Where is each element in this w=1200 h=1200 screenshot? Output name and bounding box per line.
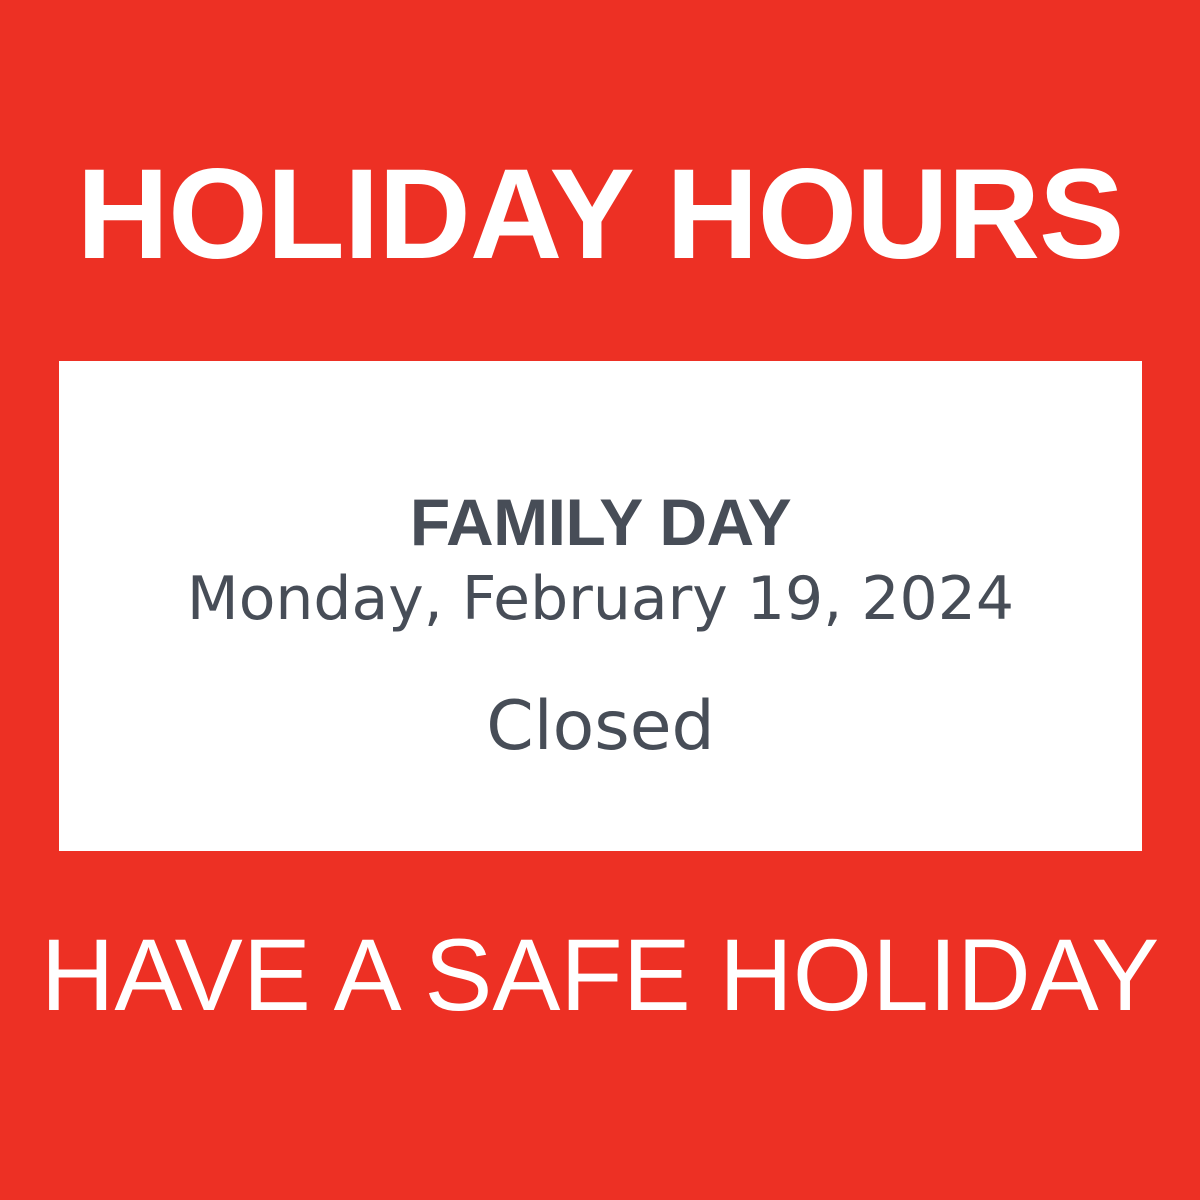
- holiday-hours-sign: HOLIDAY HOURS FAMILY DAY Monday, Februar…: [0, 0, 1200, 1200]
- sign-headline: HOLIDAY HOURS: [0, 150, 1200, 280]
- sign-footer-message: HAVE A SAFE HOLIDAY: [0, 920, 1200, 1030]
- event-status: Closed: [486, 693, 714, 761]
- event-name: FAMILY DAY: [410, 489, 791, 556]
- holiday-notice-card: FAMILY DAY Monday, February 19, 2024 Clo…: [59, 361, 1142, 851]
- event-date: Monday, February 19, 2024: [187, 568, 1014, 631]
